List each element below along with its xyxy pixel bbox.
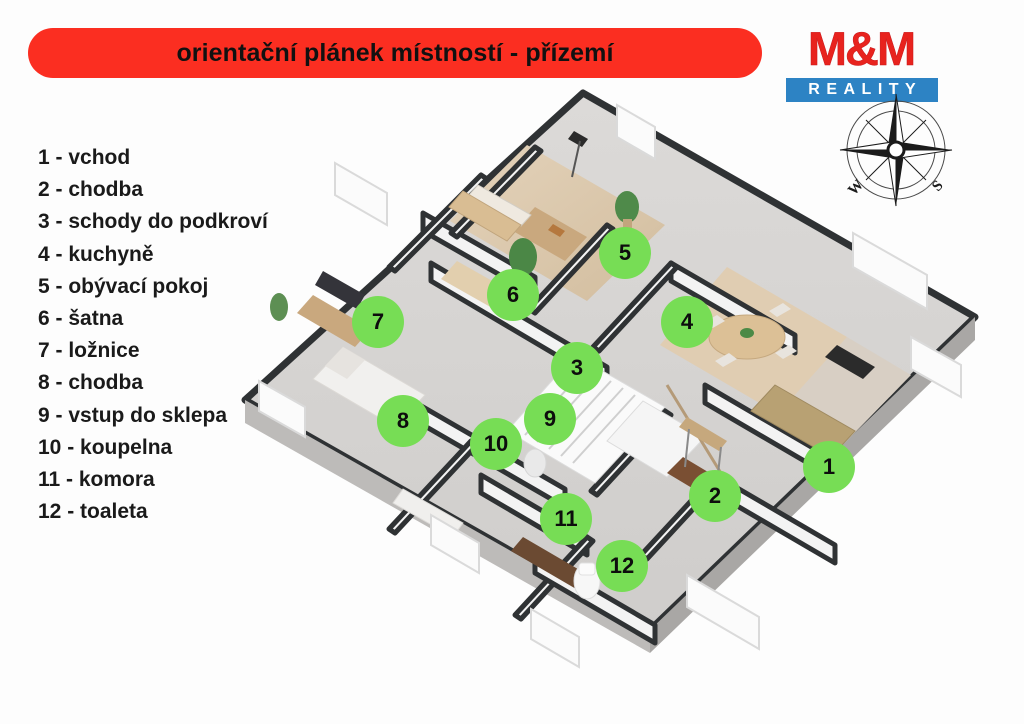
room-badge-9[interactable]: 9 (524, 393, 576, 445)
room-badge-7[interactable]: 7 (352, 296, 404, 348)
room-badge-1[interactable]: 1 (803, 441, 855, 493)
title-banner: orientační plánek místností - přízemí (28, 28, 762, 78)
page-title: orientační plánek místností - přízemí (176, 39, 613, 68)
room-badge-11[interactable]: 11 (540, 493, 592, 545)
floorplan-illustration (235, 85, 995, 685)
floorplan-page: orientační plánek místností - přízemí M&… (0, 0, 1024, 724)
room-badge-8[interactable]: 8 (377, 395, 429, 447)
room-badge-2[interactable]: 2 (689, 470, 741, 522)
logo-brand-text: M&M (782, 24, 940, 74)
room-badge-3[interactable]: 3 (551, 342, 603, 394)
room-badge-4[interactable]: 4 (661, 296, 713, 348)
room-badge-12[interactable]: 12 (596, 540, 648, 592)
room-badge-5[interactable]: 5 (599, 227, 651, 279)
room-badge-10[interactable]: 10 (470, 418, 522, 470)
room-badge-6[interactable]: 6 (487, 269, 539, 321)
